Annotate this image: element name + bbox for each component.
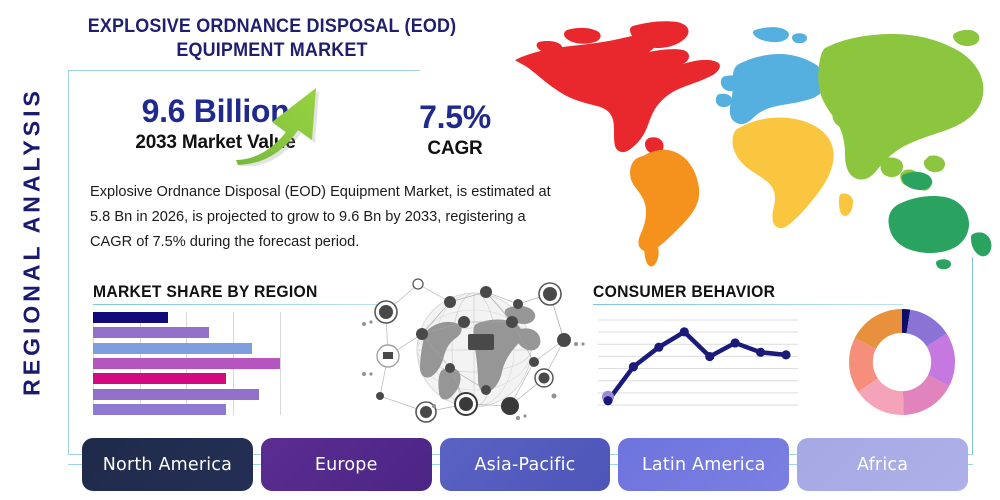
line-marker [781, 350, 790, 359]
region-chip-bar: North AmericaEuropeAsia-PacificLatin Ame… [82, 438, 968, 491]
line-marker [705, 352, 714, 361]
region-chip[interactable]: Europe [261, 438, 432, 491]
bar-fill [93, 343, 252, 354]
bar-row [93, 358, 308, 369]
bar-fill [93, 327, 209, 338]
growth-arrow-icon [232, 84, 327, 166]
bar-row [93, 404, 308, 415]
region-chip-label: Asia-Pacific [474, 455, 575, 475]
donut-segments [849, 309, 955, 415]
line-marker [756, 348, 765, 357]
line-marker [603, 396, 612, 405]
bar-chart-rows [93, 312, 308, 415]
bar-fill [93, 358, 280, 369]
market-share-bar-chart [93, 312, 308, 415]
bar-row [93, 327, 308, 338]
region-chip-label: Africa [857, 455, 908, 475]
bar-fill [93, 404, 226, 415]
region-chip[interactable]: Africa [797, 438, 968, 491]
region-chip-label: Latin America [642, 455, 766, 475]
line-marker [731, 338, 740, 347]
globe-network-icon [358, 278, 590, 423]
page-title: EXPLOSIVE ORDNANCE DISPOSAL (EOD) EQUIPM… [42, 14, 502, 62]
line-marker [629, 362, 638, 371]
cagr-value: 7.5% [390, 98, 520, 136]
cagr-block: 7.5% CAGR [390, 98, 520, 161]
world-map-icon [505, 8, 997, 270]
section-title-consumer-behavior: CONSUMER BEHAVIOR [593, 283, 775, 302]
summary-text: Explosive Ordnance Disposal (EOD) Equipm… [90, 180, 552, 255]
region-chip-label: Europe [315, 455, 378, 475]
bar-row [93, 373, 308, 384]
side-title: REGIONAL ANALYSIS [19, 47, 46, 437]
bar-fill [93, 389, 259, 400]
bar-row [93, 312, 308, 323]
bar-row [93, 389, 308, 400]
consumer-behavior-line-chart [598, 312, 798, 415]
line-marker [654, 343, 663, 352]
line-chart-markers [602, 327, 791, 405]
bar-fill [93, 312, 168, 323]
line-marker [680, 327, 689, 336]
region-chip[interactable]: North America [82, 438, 253, 491]
cagr-label: CAGR [390, 136, 520, 161]
donut-chart [845, 305, 959, 419]
infographic-root: REGIONAL ANALYSIS EXPLOSIVE ORDNANCE DIS… [0, 0, 1000, 500]
region-chip[interactable]: Asia-Pacific [440, 438, 611, 491]
bar-row [93, 343, 308, 354]
section-rule-market-share [93, 304, 393, 305]
bar-fill [93, 373, 226, 384]
section-title-market-share: MARKET SHARE BY REGION [93, 283, 318, 302]
line-chart-gridlines [598, 320, 798, 405]
region-chip-label: North America [103, 455, 232, 475]
region-chip[interactable]: Latin America [618, 438, 789, 491]
